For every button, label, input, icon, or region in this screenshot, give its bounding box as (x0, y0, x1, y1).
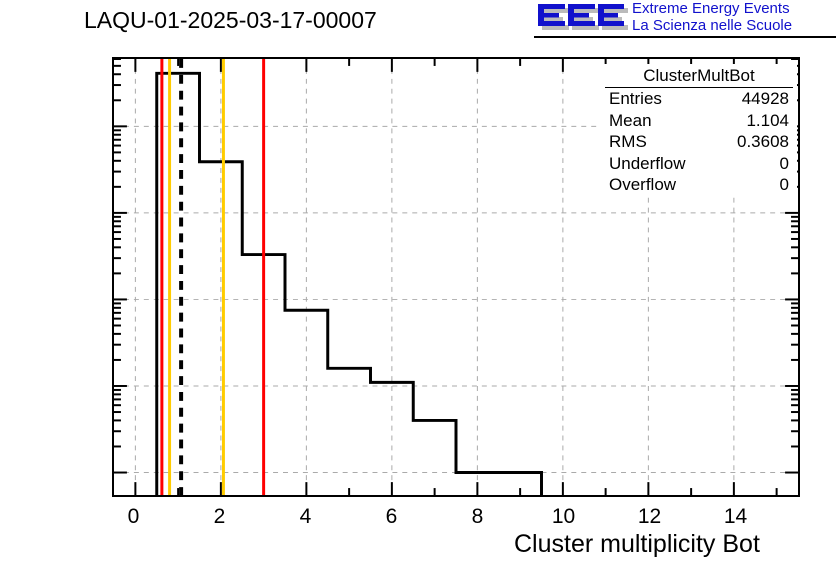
x-tick-label: 2 (214, 505, 226, 529)
x-axis-title: Cluster multiplicity Bot (514, 530, 760, 559)
x-tick-label: 4 (300, 505, 312, 529)
stats-box-title: ClusterMultBot (605, 64, 793, 88)
root-canvas: LAQU-01-2025-03-17-00007 (0, 0, 836, 572)
stats-row-value: 1.104 (746, 110, 789, 132)
stats-row-value: 0 (780, 174, 789, 196)
stats-row-key: Underflow (609, 153, 686, 175)
stats-box: ClusterMultBot Entries44928Mean1.104RMS0… (601, 64, 797, 194)
stats-row: RMS0.3608 (601, 131, 797, 153)
stats-row-value: 0.3608 (737, 131, 789, 153)
x-tick-label: 12 (638, 505, 661, 529)
stats-box-rows: Entries44928Mean1.104RMS0.3608Underflow0… (601, 88, 797, 196)
x-tick-label: 6 (386, 505, 398, 529)
stats-row: Mean1.104 (601, 110, 797, 132)
stats-row-value: 0 (780, 153, 789, 175)
stats-row-key: Mean (609, 110, 652, 132)
x-tick-label: 0 (128, 505, 140, 529)
stats-row-value: 44928 (742, 88, 789, 110)
stats-row-key: Overflow (609, 174, 676, 196)
x-tick-label: 10 (552, 505, 575, 529)
stats-row: Overflow0 (601, 174, 797, 196)
x-tick-label: 14 (724, 505, 747, 529)
stats-row-key: RMS (609, 131, 647, 153)
stats-row: Underflow0 (601, 153, 797, 175)
stats-row-key: Entries (609, 88, 662, 110)
x-tick-label: 8 (472, 505, 484, 529)
stats-row: Entries44928 (601, 88, 797, 110)
